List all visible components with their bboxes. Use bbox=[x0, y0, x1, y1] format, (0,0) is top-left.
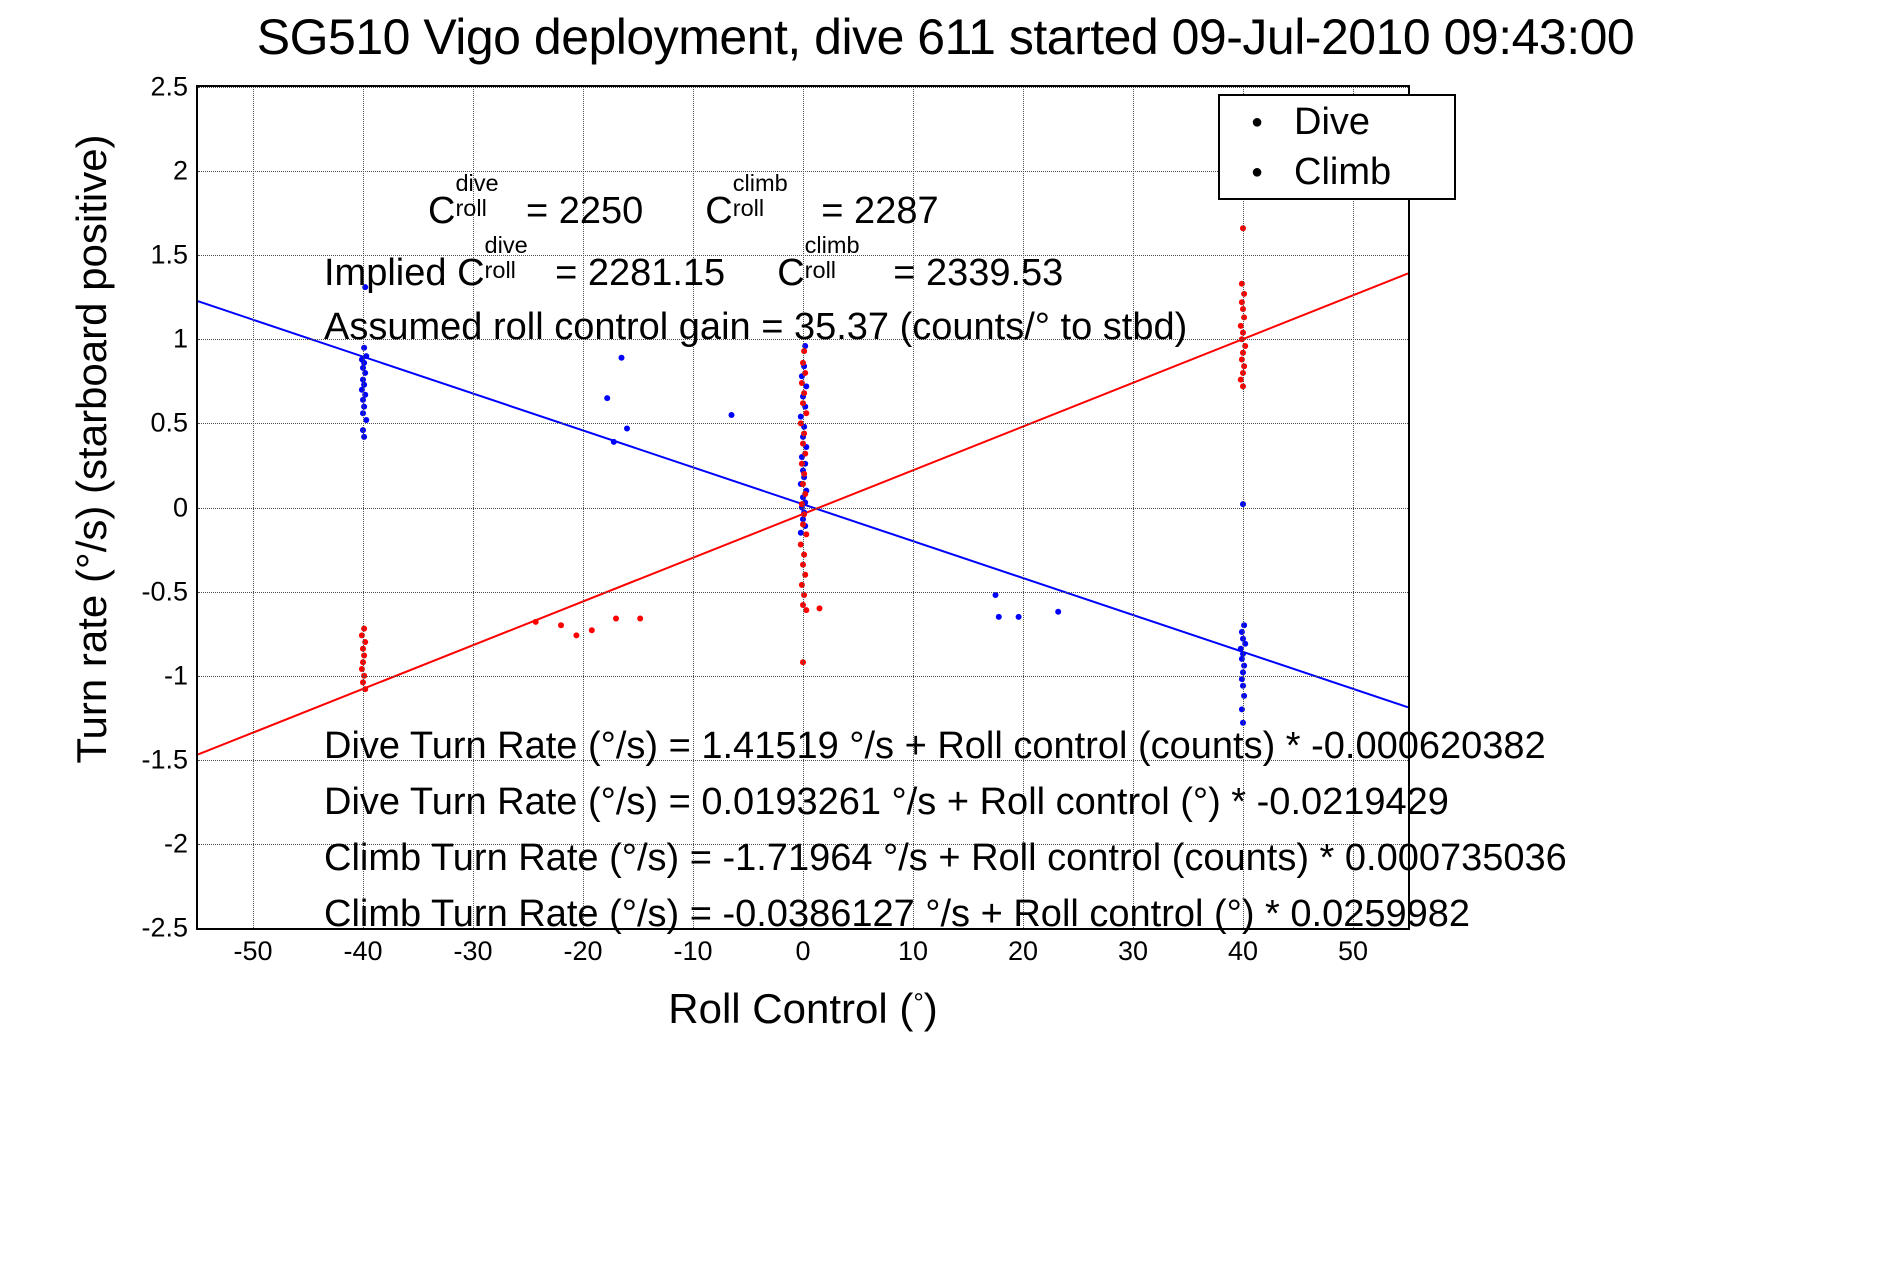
data-point bbox=[1239, 706, 1245, 712]
data-point bbox=[1241, 314, 1247, 320]
data-point bbox=[1239, 629, 1245, 635]
data-point bbox=[996, 614, 1002, 620]
data-point bbox=[624, 425, 630, 431]
croll-climb-symbol: C bbox=[705, 190, 732, 232]
data-point bbox=[361, 434, 367, 440]
data-point bbox=[573, 632, 579, 638]
implied-prefix: Implied bbox=[324, 252, 457, 294]
y-tick-label: 2.5 bbox=[150, 72, 188, 103]
data-point bbox=[1055, 609, 1061, 615]
x-tick-label: -20 bbox=[563, 936, 602, 967]
y-axis-label: Turn rate (°/s) (starboard positive) bbox=[68, 99, 116, 799]
y-tick-label: 1.5 bbox=[150, 240, 188, 271]
y-tick-label: -1 bbox=[164, 660, 188, 691]
data-point bbox=[359, 632, 365, 638]
x-tick-label: -50 bbox=[233, 936, 272, 967]
data-point bbox=[533, 619, 539, 625]
x-tick-label: 0 bbox=[795, 936, 810, 967]
equation-dive-counts: Dive Turn Rate (°/s) = 1.41519 °/s + Rol… bbox=[324, 725, 1546, 768]
data-point bbox=[361, 626, 367, 632]
legend[interactable]: ● Dive ● Climb bbox=[1218, 94, 1456, 200]
data-point bbox=[361, 360, 367, 366]
data-point bbox=[1239, 656, 1245, 662]
grid-line-horizontal bbox=[198, 592, 1408, 593]
legend-label-climb: Climb bbox=[1294, 151, 1391, 194]
grid-line-horizontal bbox=[198, 87, 1408, 88]
equation-climb-counts: Climb Turn Rate (°/s) = -1.71964 °/s + R… bbox=[324, 837, 1567, 880]
implied-climb-superscript: climb bbox=[805, 232, 860, 259]
equation-climb-degrees: Climb Turn Rate (°/s) = -0.0386127 °/s +… bbox=[324, 893, 1470, 936]
data-point bbox=[801, 430, 807, 436]
x-tick-label: 40 bbox=[1228, 936, 1258, 967]
x-tick-label: -40 bbox=[343, 936, 382, 967]
grid-line-horizontal bbox=[198, 423, 1408, 424]
y-tick-label: -2 bbox=[164, 828, 188, 859]
data-point bbox=[801, 592, 807, 598]
data-point bbox=[613, 616, 619, 622]
annotation-implied-croll-line: Implied Cdiveroll = 2281.15Cclimbroll = … bbox=[324, 247, 1063, 295]
data-point bbox=[637, 616, 643, 622]
x-axis-label: Roll Control (°) bbox=[196, 985, 1410, 1033]
y-tick-label: 2 bbox=[173, 156, 188, 187]
data-point bbox=[361, 404, 367, 410]
y-tick-label: 1 bbox=[173, 324, 188, 355]
y-tick-label: 0.5 bbox=[150, 408, 188, 439]
implied-dive-value: = 2281.15 bbox=[545, 252, 726, 294]
implied-dive-superscript: dive bbox=[485, 232, 528, 259]
croll-climb-superscript: climb bbox=[733, 170, 788, 197]
data-point bbox=[363, 417, 369, 423]
data-point bbox=[817, 605, 823, 611]
y-tick-label: -1.5 bbox=[141, 744, 188, 775]
x-tick-label: 10 bbox=[898, 936, 928, 967]
croll-dive-value: = 2250 bbox=[515, 190, 643, 232]
legend-item-dive[interactable]: ● Dive bbox=[1220, 97, 1454, 147]
data-point bbox=[1241, 363, 1247, 369]
annotation-croll-line: Cdiveroll = 2250Cclimbroll = 2287 bbox=[428, 185, 939, 233]
data-point bbox=[803, 607, 809, 613]
data-point bbox=[1241, 622, 1247, 628]
chart-title: SG510 Vigo deployment, dive 611 started … bbox=[0, 8, 1891, 66]
chart-figure: SG510 Vigo deployment, dive 611 started … bbox=[0, 0, 1891, 1262]
data-point bbox=[1016, 614, 1022, 620]
data-point bbox=[604, 395, 610, 401]
x-tick-label: 30 bbox=[1118, 936, 1148, 967]
implied-dive-subscript: roll bbox=[485, 257, 516, 284]
data-point bbox=[799, 461, 805, 467]
legend-item-climb[interactable]: ● Climb bbox=[1220, 147, 1454, 197]
legend-label-dive: Dive bbox=[1294, 101, 1370, 144]
implied-dive-symbol: C bbox=[457, 252, 484, 294]
y-tick-label: -2.5 bbox=[141, 913, 188, 944]
data-point bbox=[801, 552, 807, 558]
x-axis-label-tail: ) bbox=[924, 985, 938, 1032]
data-point bbox=[1239, 356, 1245, 362]
data-point bbox=[803, 531, 809, 537]
equation-dive-degrees: Dive Turn Rate (°/s) = 0.0193261 °/s + R… bbox=[324, 781, 1449, 824]
x-tick-label: 20 bbox=[1008, 936, 1038, 967]
x-axis-label-text: Roll Control ( bbox=[668, 985, 913, 1032]
data-point bbox=[801, 390, 807, 396]
annotation-gain-line: Assumed roll control gain = 35.37 (count… bbox=[324, 306, 1187, 349]
legend-marker-climb: ● bbox=[1220, 162, 1294, 182]
grid-line-horizontal bbox=[198, 676, 1408, 677]
data-point bbox=[361, 653, 367, 659]
x-tick-label: -10 bbox=[673, 936, 712, 967]
data-point bbox=[558, 622, 564, 628]
data-point bbox=[803, 410, 809, 416]
croll-dive-superscript: dive bbox=[455, 170, 498, 197]
data-point bbox=[619, 355, 625, 361]
implied-climb-subscript: roll bbox=[805, 257, 836, 284]
data-point bbox=[993, 592, 999, 598]
data-point bbox=[729, 412, 735, 418]
data-point bbox=[801, 471, 807, 477]
x-tick-label: 50 bbox=[1338, 936, 1368, 967]
implied-climb-value: = 2339.53 bbox=[883, 252, 1064, 294]
degree-icon: ° bbox=[913, 987, 923, 1017]
data-point bbox=[1239, 299, 1245, 305]
data-point bbox=[1239, 676, 1245, 682]
data-point bbox=[799, 501, 805, 507]
y-tick-label: 0 bbox=[173, 492, 188, 523]
data-point bbox=[799, 582, 805, 588]
implied-climb-symbol: C bbox=[777, 252, 804, 294]
data-point bbox=[1241, 291, 1247, 297]
data-point bbox=[1241, 693, 1247, 699]
data-point bbox=[1239, 281, 1245, 287]
croll-climb-value: = 2287 bbox=[811, 190, 939, 232]
y-tick-label: -0.5 bbox=[141, 576, 188, 607]
croll-dive-subscript: roll bbox=[455, 195, 486, 222]
croll-dive-symbol: C bbox=[428, 190, 455, 232]
grid-line-horizontal bbox=[198, 508, 1408, 509]
data-point bbox=[1241, 663, 1247, 669]
legend-marker-dive: ● bbox=[1220, 112, 1294, 132]
x-tick-label: -30 bbox=[453, 936, 492, 967]
data-point bbox=[359, 387, 365, 393]
data-point bbox=[801, 511, 807, 517]
data-point bbox=[799, 380, 805, 386]
data-point bbox=[359, 666, 365, 672]
croll-climb-subscript: roll bbox=[733, 195, 764, 222]
data-point bbox=[589, 627, 595, 633]
data-point bbox=[611, 439, 617, 445]
